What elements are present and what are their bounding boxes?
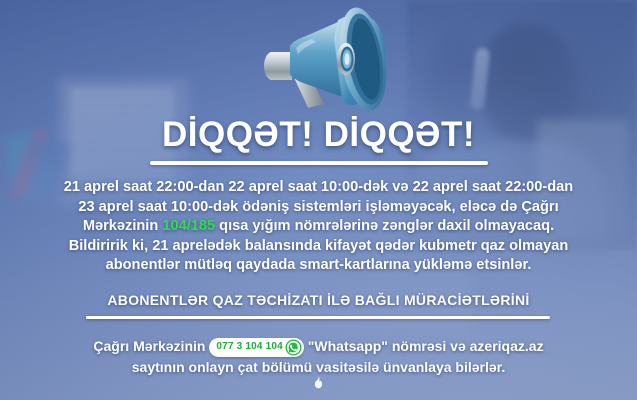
- body-line-5: abonentlər mütləq qaydada smart-kartları…: [16, 256, 621, 276]
- body-line-3: Mərkəzinin 104/185 qısa yığım nömrələrin…: [16, 217, 621, 237]
- whatsapp-icon: [285, 339, 302, 356]
- whatsapp-phone-badge[interactable]: 077 3 104 104: [209, 338, 304, 357]
- subheading: ABONENTLƏR QAZ TƏCHİZATI İLƏ BAĞLI MÜRAC…: [0, 292, 637, 308]
- subheading-underline: [86, 316, 550, 319]
- announcement-poster: DİQQƏT! DİQQƏT! 21 aprel saat 22:00-dan …: [0, 0, 637, 400]
- body-line-2: 23 aprel saat 10:00-dək ödəniş sistemlər…: [16, 198, 621, 218]
- body-line-4: Bildiririk ki, 21 aprelədək balansında k…: [16, 237, 621, 257]
- phone-number: 077 3 104 104: [216, 342, 283, 352]
- body-line-3-prefix: Mərkəzinin: [83, 218, 162, 234]
- flame-logo-icon: [0, 374, 637, 396]
- body-line-3-suffix: qısa yığım nömrələrinə zənglər daxil olm…: [215, 218, 554, 234]
- contact-prefix: Çağrı Mərkəzinin: [93, 338, 209, 354]
- title-underline: [150, 161, 488, 165]
- page-title: DİQQƏT! DİQQƏT!: [0, 115, 637, 155]
- body-line-1: 21 aprel saat 22:00-dan 22 aprel saat 10…: [16, 178, 621, 198]
- contact-info: Çağrı Mərkəzinin 077 3 104 104 "Whatsapp…: [16, 336, 621, 378]
- announcement-body: 21 aprel saat 22:00-dan 22 aprel saat 10…: [16, 178, 621, 276]
- contact-suffix: "Whatsapp" nömrəsi və azeriqaz.az: [304, 338, 544, 354]
- short-numbers-highlight: 104/185: [162, 218, 215, 234]
- contact-line-1: Çağrı Mərkəzinin 077 3 104 104 "Whatsapp…: [16, 336, 621, 357]
